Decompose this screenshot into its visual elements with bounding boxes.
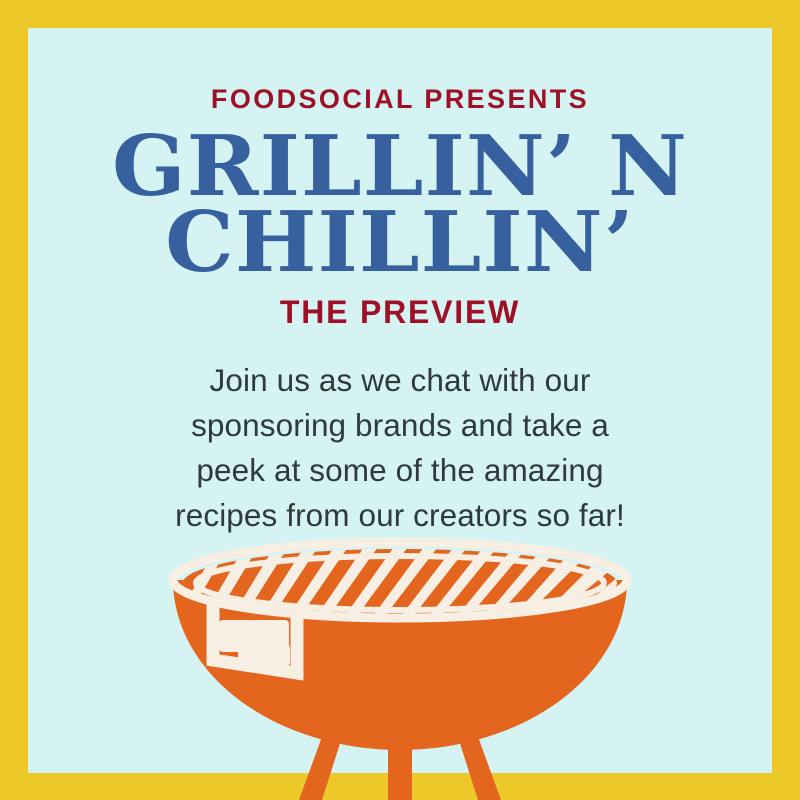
poster-body-line-4: recipes from our creators so far! bbox=[114, 493, 686, 538]
poster-kicker: FOODSOCIAL PRESENTS bbox=[28, 86, 772, 113]
poster-body-line-1: Join us as we chat with our bbox=[114, 358, 686, 403]
poster-title: GRILLIN’ N CHILLIN’ bbox=[28, 128, 772, 281]
poster-subtitle: THE PREVIEW bbox=[28, 296, 772, 328]
poster-body-copy: Join us as we chat with our sponsoring b… bbox=[114, 358, 686, 538]
poster-inner-panel: FOODSOCIAL PRESENTS GRILLIN’ N CHILLIN’ … bbox=[28, 28, 772, 773]
poster-title-line-2: CHILLIN’ bbox=[28, 204, 772, 280]
poster-canvas: FOODSOCIAL PRESENTS GRILLIN’ N CHILLIN’ … bbox=[0, 0, 800, 800]
poster-body-line-2: sponsoring brands and take a bbox=[114, 403, 686, 448]
poster-body-line-3: peek at some of the amazing bbox=[114, 448, 686, 493]
